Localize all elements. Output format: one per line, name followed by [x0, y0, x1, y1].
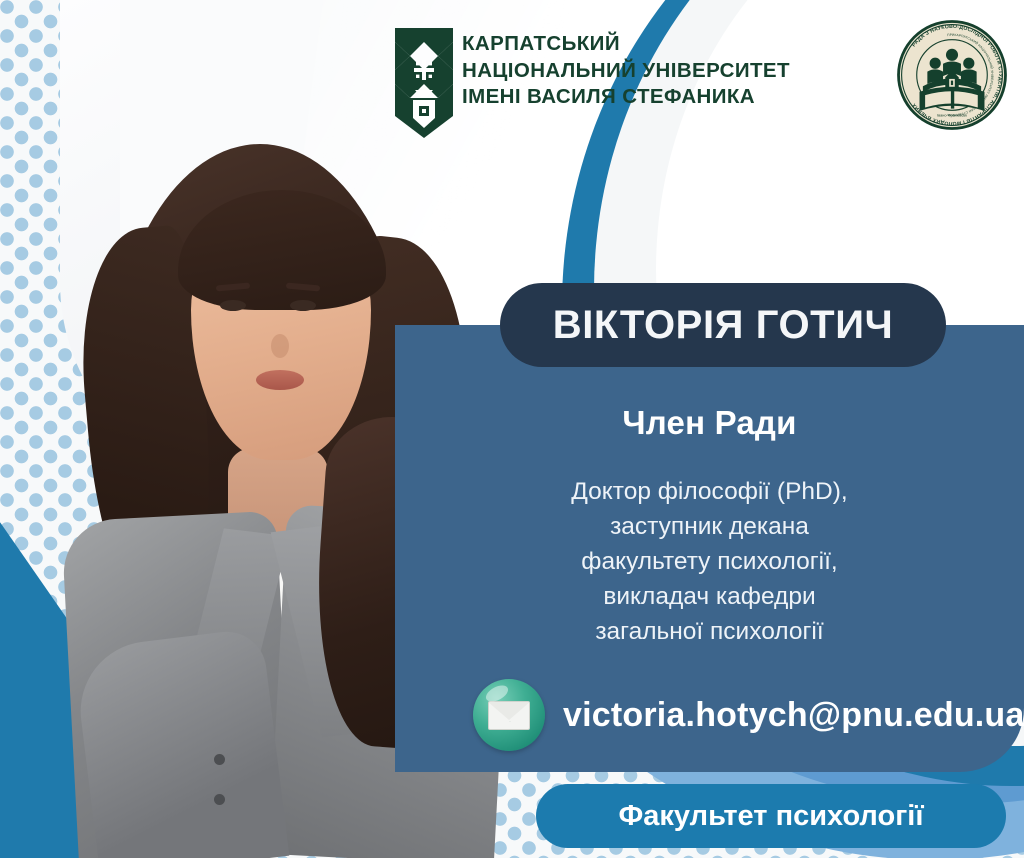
faculty-label: Факультет психології	[619, 800, 924, 833]
poster-card: КАРПАТСЬКИЙ НАЦІОНАЛЬНИЙ УНІВЕРСИТЕТ ІМЕ…	[0, 0, 1024, 858]
envelope-icon[interactable]	[473, 679, 545, 751]
faculty-badge: Факультет психології	[536, 784, 1006, 848]
emblem-city-label: Івано-Франківськ	[937, 113, 967, 117]
description-line-4: викладач кафедри	[395, 579, 1024, 614]
university-name-line-2: НАЦІОНАЛЬНИЙ УНІВЕРСИТЕТ	[462, 58, 790, 85]
jacket-button-1	[214, 754, 225, 765]
email-address[interactable]: victoria.hotych@pnu.edu.ua	[563, 696, 1024, 735]
university-name: КАРПАТСЬКИЙ НАЦІОНАЛЬНИЙ УНІВЕРСИТЕТ ІМЕ…	[462, 31, 790, 111]
person-name-badge: ВІКТОРІЯ ГОТИЧ	[500, 283, 946, 367]
jacket-arm	[73, 627, 290, 858]
university-name-line-1: КАРПАТСЬКИЙ	[462, 31, 790, 58]
description-line-3: факультету психології,	[395, 544, 1024, 579]
person-role: Член Ради	[395, 404, 1024, 442]
nose	[271, 334, 289, 358]
jacket-button-2	[214, 794, 225, 805]
email-row[interactable]: victoria.hotych@pnu.edu.ua	[473, 679, 1024, 751]
eye-left	[220, 300, 246, 311]
person-description: Доктор філософії (PhD), заступник декана…	[395, 474, 1024, 649]
eye-right	[290, 300, 316, 311]
university-name-line-3: ІМЕНІ ВАСИЛЯ СТЕФАНИКА	[462, 84, 790, 111]
person-name: ВІКТОРІЯ ГОТИЧ	[553, 303, 894, 348]
description-line-1: Доктор філософії (PhD),	[395, 474, 1024, 509]
envelope-glyph	[488, 701, 530, 730]
council-emblem-icon: РАДА З НАУКОВО-ДОСЛІДНОЇ РОБОТИ СТУДЕНТІ…	[896, 19, 1008, 131]
lips	[256, 370, 304, 390]
description-line-5: загальної психології	[395, 614, 1024, 649]
pnu-shield-logo-icon	[391, 24, 457, 140]
description-line-2: заступник декана	[395, 509, 1024, 544]
